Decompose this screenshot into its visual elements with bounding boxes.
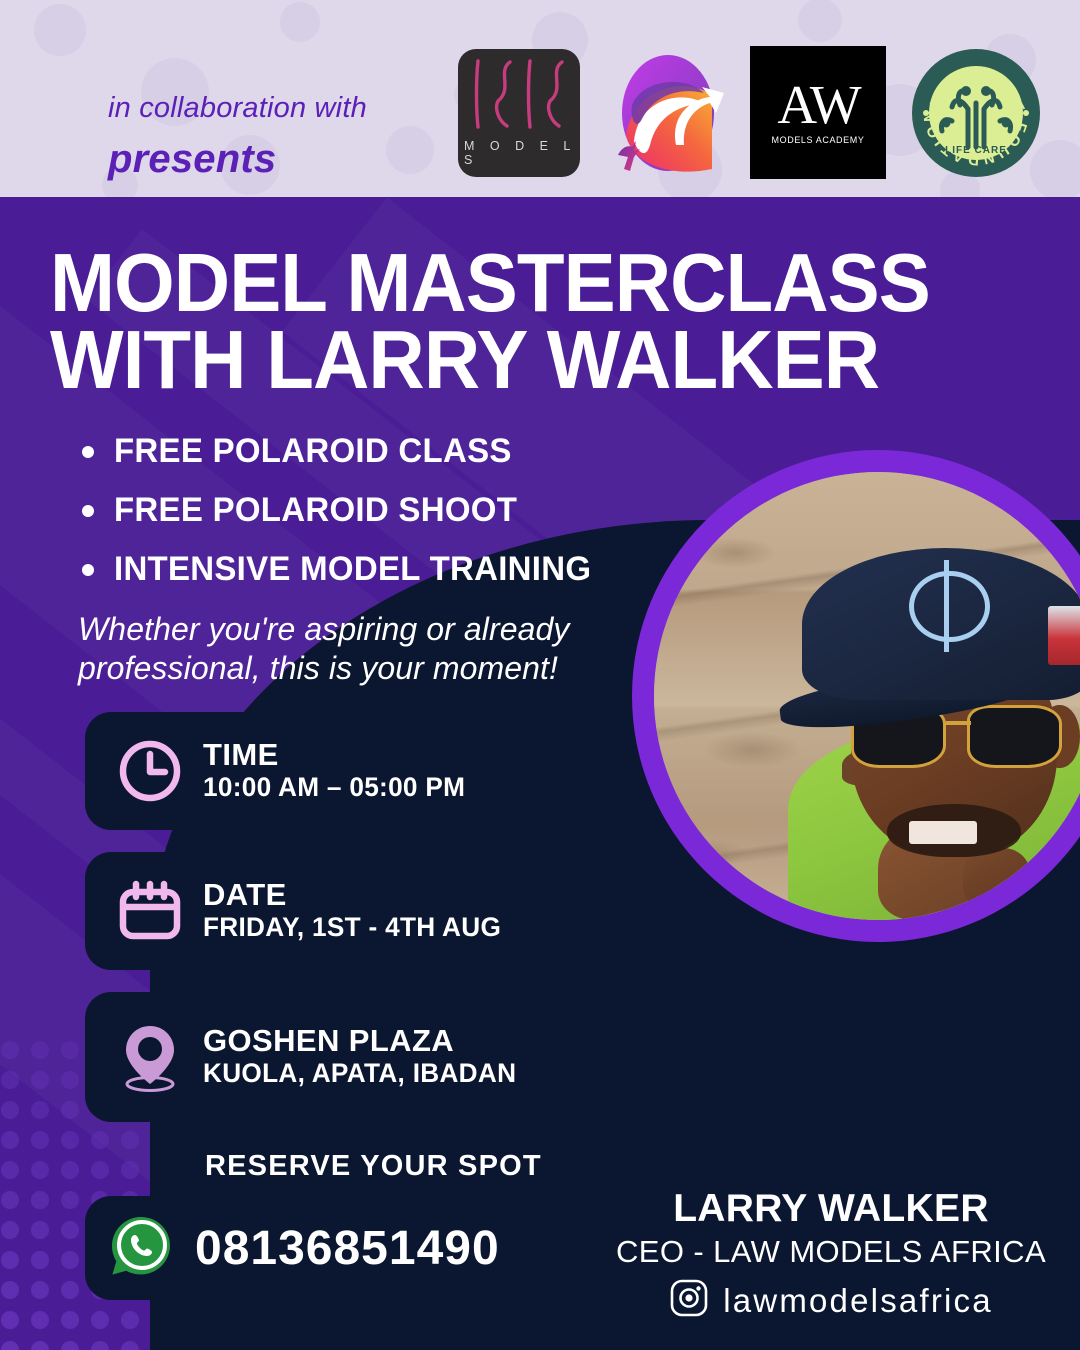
bullet-label: FREE POLAROID SHOOT — [114, 491, 517, 530]
swirl-arrow-logo — [604, 49, 726, 177]
info-card-text: TIME 10:00 AM – 05:00 PM — [189, 738, 473, 803]
larry-walker-portrait — [654, 472, 1080, 920]
isis-models-logo: M O D E L S — [458, 49, 580, 177]
alw-monogram: AW — [777, 80, 858, 130]
info-card-text: GOSHEN PLAZA KUOLA, APATA, IBADAN — [189, 1024, 526, 1089]
bullet-dot-icon — [82, 564, 94, 576]
info-card-date: DATE FRIDAY, 1ST - 4TH AUG — [85, 852, 530, 970]
alw-models-academy-logo: AW MODELS ACADEMY — [750, 46, 886, 179]
tagline: Whether you're aspiring or already profe… — [78, 610, 638, 688]
instagram-handle[interactable]: lawmodelsafrica — [723, 1282, 993, 1320]
calendar-icon — [111, 880, 189, 942]
svg-text:LIFE CARE: LIFE CARE — [945, 145, 1007, 156]
instagram-row[interactable]: lawmodelsafrica — [596, 1278, 1066, 1323]
partner-logo-row: M O D E L S — [458, 46, 1042, 179]
info-card-label: DATE — [203, 878, 510, 911]
info-card-text: DATE FRIDAY, 1ST - 4TH AUG — [189, 878, 510, 943]
info-card-location: GOSHEN PLAZA KUOLA, APATA, IBADAN — [85, 992, 530, 1122]
location-pin-icon — [111, 1021, 189, 1093]
whatsapp-contact-card[interactable]: 08136851490 — [85, 1196, 530, 1300]
credits-block: LARRY WALKER CEO - LAW MODELS AFRICA law… — [596, 1188, 1066, 1323]
info-card-label: TIME — [203, 738, 473, 771]
list-item: FREE POLAROID CLASS — [82, 432, 702, 471]
speaker-name: LARRY WALKER — [596, 1188, 1066, 1229]
header-bar: in collaboration with presents M O D E L… — [0, 0, 1080, 197]
reserve-heading: RESERVE YOUR SPOT — [205, 1150, 542, 1183]
alw-subtitle: MODELS ACADEMY — [772, 135, 865, 145]
tagline-line-1: Whether you're aspiring or already — [78, 610, 638, 649]
heal-and-feed-foundation-logo: HEAL & FEED FOUNDATION LIFE CARE — [910, 47, 1042, 179]
info-card-value: KUOLA, APATA, IBADAN — [203, 1058, 516, 1090]
phone-number[interactable]: 08136851490 — [173, 1221, 500, 1276]
list-item: FREE POLAROID SHOOT — [82, 491, 702, 530]
bullet-dot-icon — [82, 446, 94, 458]
feature-bullet-list: FREE POLAROID CLASS FREE POLAROID SHOOT … — [82, 432, 702, 609]
info-card-value: 10:00 AM – 05:00 PM — [203, 772, 465, 804]
info-card-time: TIME 10:00 AM – 05:00 PM — [85, 712, 530, 830]
isis-mark — [472, 58, 567, 130]
flyer-poster: in collaboration with presents M O D E L… — [0, 0, 1080, 1350]
info-card-label: GOSHEN PLAZA — [203, 1024, 526, 1057]
bullet-dot-icon — [82, 505, 94, 517]
isis-wordmark: M O D E L S — [458, 139, 580, 167]
list-item: INTENSIVE MODEL TRAINING — [82, 550, 702, 589]
page-title: MODEL MASTERCLASS WITH LARRY WALKER — [50, 244, 981, 398]
tagline-line-2: professional, this is your moment! — [78, 649, 638, 688]
title-line-1: MODEL MASTERCLASS — [50, 244, 981, 321]
instagram-icon[interactable] — [669, 1278, 709, 1323]
speaker-role: CEO - LAW MODELS AFRICA — [596, 1236, 1066, 1269]
whatsapp-icon[interactable] — [109, 1214, 173, 1283]
info-card-value: FRIDAY, 1ST - 4TH AUG — [203, 912, 501, 944]
clock-icon — [111, 738, 189, 804]
bullet-label: INTENSIVE MODEL TRAINING — [114, 550, 591, 589]
title-line-2: WITH LARRY WALKER — [50, 321, 981, 398]
bullet-label: FREE POLAROID CLASS — [114, 432, 512, 471]
